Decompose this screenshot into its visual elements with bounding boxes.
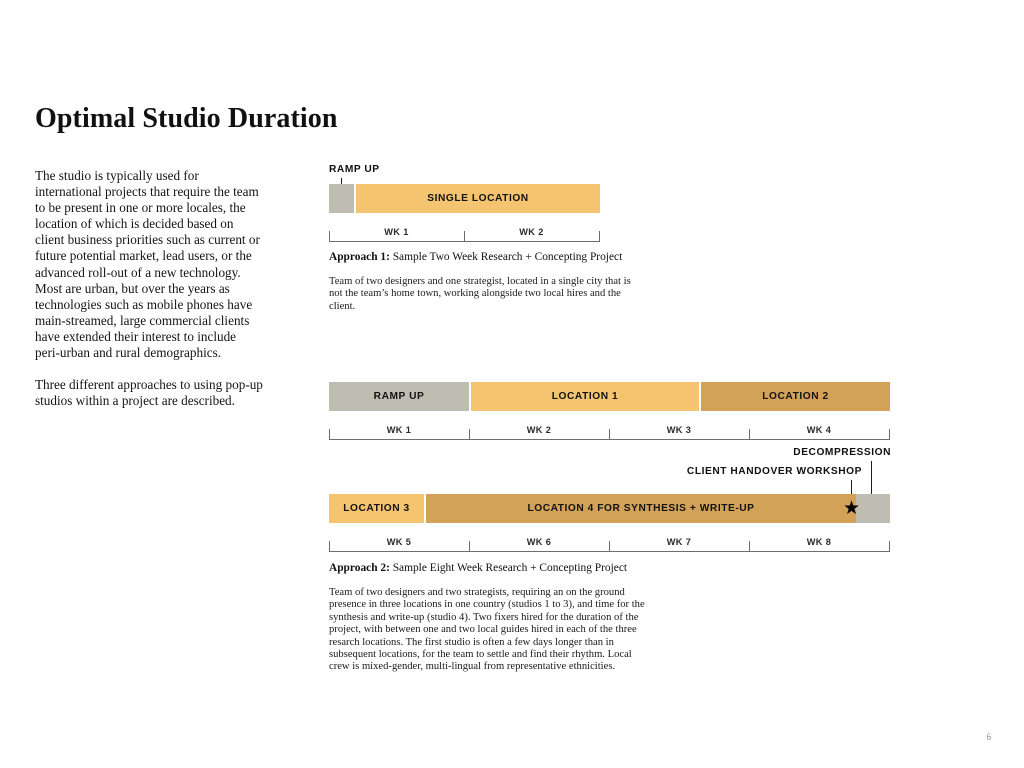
bar-segment-location-2: LOCATION 2 [701, 382, 890, 411]
axis-label-wk: WK 5 [329, 537, 469, 547]
bar-row-approach-1: SINGLE LOCATION [329, 184, 600, 213]
charts-column: RAMP UP SINGLE LOCATION WK 1 WK 2 Approa… [329, 0, 949, 768]
bar-segment-location-1: LOCATION 1 [471, 382, 699, 411]
bar-row-approach-2-weeks-5-8: LOCATION 3 LOCATION 4 FOR SYNTHESIS + WR… [329, 494, 890, 523]
caption-approach-1-title: Approach 1: Sample Two Week Research + C… [329, 251, 622, 263]
axis-approach-1: WK 1 WK 2 [329, 216, 600, 242]
axis-label-wk: WK 1 [329, 425, 469, 435]
bar-segment-label: LOCATION 3 [343, 503, 409, 514]
client-handover-star-icon: ★ [843, 499, 860, 518]
caption-approach-2-title: Approach 2: Sample Eight Week Research +… [329, 562, 627, 574]
axis-tick [889, 429, 890, 440]
axis-tick [599, 231, 600, 242]
bar-segment-label: LOCATION 2 [762, 391, 828, 402]
axis-approach-2-row-2: WK 5 WK 6 WK 7 WK 8 [329, 526, 890, 552]
caption-title-prefix: Approach 1: [329, 251, 390, 263]
callout-label-client-handover-workshop: CLIENT HANDOVER WORKSHOP [619, 466, 862, 477]
bar-segment-label: LOCATION 4 FOR SYNTHESIS + WRITE-UP [527, 503, 754, 514]
caption-title-prefix: Approach 2: [329, 562, 390, 574]
axis-label-wk: WK 6 [469, 537, 609, 547]
bar-segment-ramp-up: RAMP UP [329, 382, 469, 411]
bar-segment-location-3: LOCATION 3 [329, 494, 424, 523]
page-number: 6 [987, 732, 992, 742]
axis-label-wk: WK 2 [469, 425, 609, 435]
intro-text-column: The studio is typically used for interna… [35, 168, 263, 425]
bar-segment-ramp-up [329, 184, 354, 213]
axis-tick [889, 541, 890, 552]
bar-segment-label: SINGLE LOCATION [427, 193, 528, 204]
intro-paragraph-2: Three different approaches to using pop-… [35, 377, 263, 409]
axis-label-wk: WK 3 [609, 425, 749, 435]
bar-segment-single-location: SINGLE LOCATION [356, 184, 600, 213]
caption-approach-1-body: Team of two designers and one strategist… [329, 276, 645, 313]
intro-paragraph-1: The studio is typically used for interna… [35, 168, 263, 361]
bar-segment-label: LOCATION 1 [552, 391, 618, 402]
axis-label-wk: WK 2 [464, 227, 599, 237]
axis-label-wk: WK 1 [329, 227, 464, 237]
caption-title-rest: Sample Eight Week Research + Concepting … [390, 562, 627, 574]
axis-approach-2-row-1: WK 1 WK 2 WK 3 WK 4 [329, 414, 890, 440]
callout-label-ramp-up: RAMP UP [329, 164, 380, 175]
axis-label-wk: WK 8 [749, 537, 889, 547]
caption-approach-2-body: Team of two designers and two strategist… [329, 587, 645, 674]
bar-segment-label: RAMP UP [374, 391, 425, 402]
page-title: Optimal Studio Duration [35, 104, 338, 133]
bar-row-approach-2-weeks-1-4: RAMP UP LOCATION 1 LOCATION 2 [329, 382, 890, 411]
axis-label-wk: WK 4 [749, 425, 889, 435]
caption-title-rest: Sample Two Week Research + Concepting Pr… [390, 251, 622, 263]
axis-label-wk: WK 7 [609, 537, 749, 547]
bar-segment-decompression [856, 494, 890, 523]
bar-segment-location-4-synthesis: LOCATION 4 FOR SYNTHESIS + WRITE-UP [426, 494, 856, 523]
callout-label-decompression: DECOMPRESSION [709, 447, 891, 458]
